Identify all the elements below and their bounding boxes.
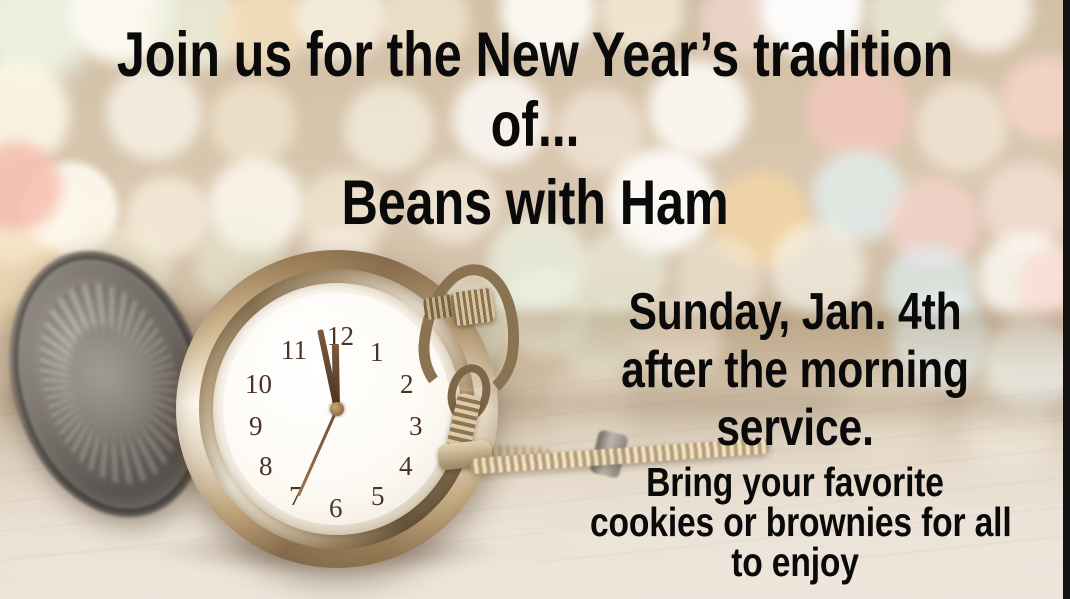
watch-dial: 12 1 2 3 4 5 6 7 8 9 10 11 [223, 293, 452, 525]
flyer-canvas: 12 1 2 3 4 5 6 7 8 9 10 11 [0, 0, 1070, 599]
headline-line-3: Beans with Ham [107, 172, 963, 235]
clock-numeral: 11 [281, 335, 307, 366]
right-edge-border [1063, 0, 1070, 599]
clock-numeral: 9 [249, 411, 263, 442]
clock-numeral: 5 [371, 481, 385, 512]
headline-line-2: of... [107, 94, 963, 157]
clock-numeral: 6 [329, 493, 343, 524]
clock-numeral: 1 [370, 337, 384, 368]
pocket-watch-image: 12 1 2 3 4 5 6 7 8 9 10 11 [0, 236, 620, 599]
clock-numeral: 4 [399, 451, 413, 482]
clock-numeral: 2 [400, 369, 414, 400]
details-line-1: Sunday, Jan. 4th [602, 286, 987, 338]
instructions-line-1: Bring your favorite [602, 462, 987, 503]
clock-numeral: 10 [245, 369, 272, 400]
instructions-line-3: to enjoy [602, 542, 987, 583]
headline-line-1: Join us for the New Year’s tradition [107, 24, 963, 87]
instructions-line-2: cookies or brownies for all [590, 502, 1000, 543]
details-line-3: service. [602, 402, 987, 454]
details-line-2: after the morning [602, 344, 987, 396]
watch-crown [450, 287, 496, 327]
clock-numeral: 8 [259, 451, 273, 482]
clock-center-pivot [330, 402, 344, 416]
clock-numeral: 3 [409, 411, 423, 442]
